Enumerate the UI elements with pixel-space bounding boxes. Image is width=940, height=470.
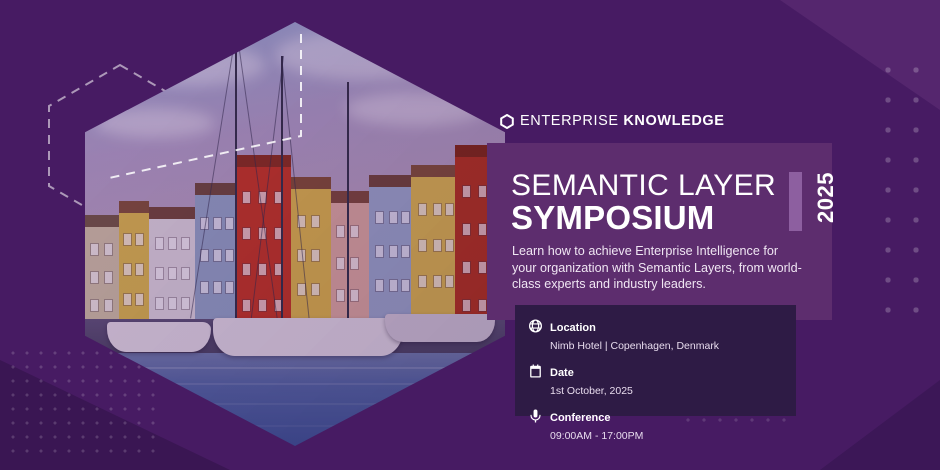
detail-value: 09:00AM - 17:00PM <box>550 430 643 442</box>
globe-icon <box>529 319 542 333</box>
dot-grid-bottom-left <box>6 346 156 456</box>
event-banner: ENTERPRISE KNOWLEDGE SEMANTIC LAYER SYMP… <box>0 0 940 470</box>
detail-row-location: Location Nimb Hotel | Copenhagen, Denmar… <box>529 318 719 354</box>
triangle-top-right <box>780 0 940 110</box>
detail-label: Location <box>550 322 596 334</box>
hero-photo-nyhavn <box>85 22 505 446</box>
dot-grid-top-right <box>874 55 930 325</box>
microphone-icon <box>529 409 542 423</box>
event-title: SEMANTIC LAYER SYMPOSIUM 2025 <box>511 170 837 235</box>
brand-name: ENTERPRISE KNOWLEDGE <box>520 113 725 129</box>
title-line-1: SEMANTIC LAYER <box>511 170 776 201</box>
event-year: 2025 <box>815 172 837 223</box>
dashed-accent-line <box>103 28 313 218</box>
triangle-bottom-right <box>820 380 940 470</box>
detail-label: Conference <box>550 412 611 424</box>
detail-row-date: Date 1st October, 2025 <box>529 363 719 399</box>
calendar-icon <box>529 364 542 378</box>
brand-name-bold: KNOWLEDGE <box>623 113 724 129</box>
event-description: Learn how to achieve Enterprise Intellig… <box>512 243 802 293</box>
year-accent-bar <box>789 172 802 231</box>
hexagon-outline-icon <box>500 114 514 129</box>
detail-value: 1st October, 2025 <box>550 385 633 397</box>
event-details-panel: Location Nimb Hotel | Copenhagen, Denmar… <box>515 305 796 416</box>
detail-row-conference: Conference 09:00AM - 17:00PM <box>529 408 719 444</box>
brand-logo[interactable]: ENTERPRISE KNOWLEDGE <box>500 113 725 129</box>
brand-name-light: ENTERPRISE <box>520 113 619 129</box>
detail-label: Date <box>550 367 574 379</box>
title-line-2: SYMPOSIUM <box>511 201 776 235</box>
detail-value: Nimb Hotel | Copenhagen, Denmark <box>550 340 719 352</box>
